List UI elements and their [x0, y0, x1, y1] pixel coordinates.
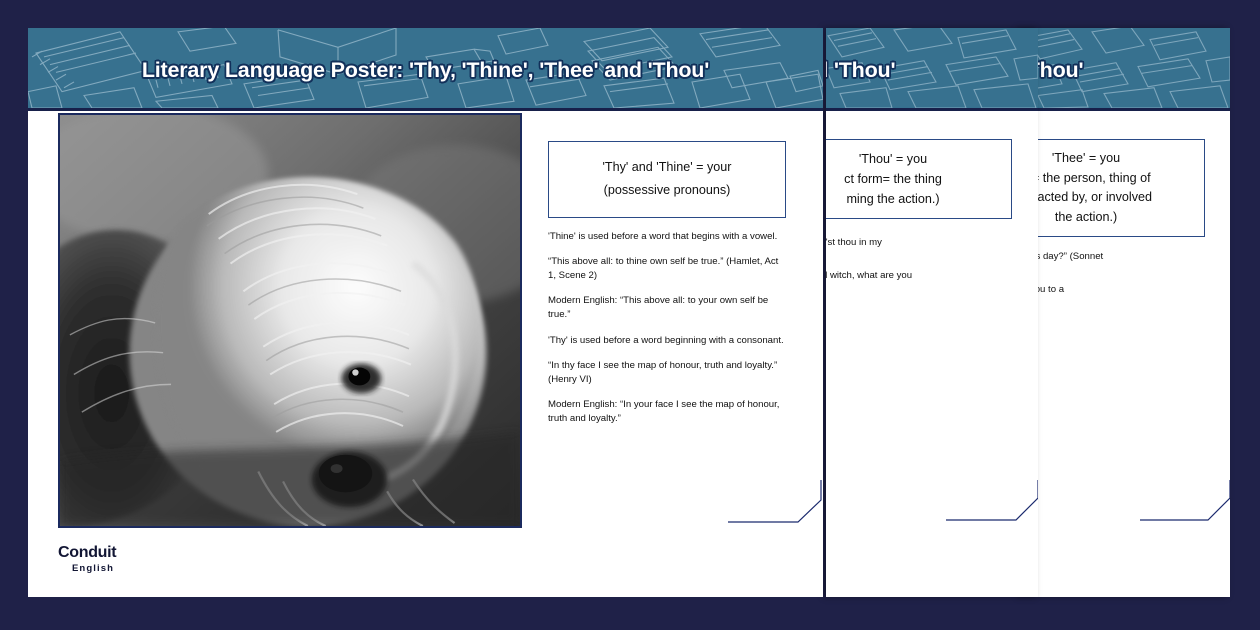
dog-photo: [60, 115, 520, 526]
page-3-definition-line-2: n = the person, thing of: [1020, 169, 1196, 189]
page-2-definition-line-2: ct form= the thing: [826, 169, 1003, 189]
page-3-corner-fold: [1140, 480, 1230, 522]
page-3-banner: e' and 'Thou': [1020, 28, 1230, 111]
page-3-paragraph-2: hall I compare you to a: [1020, 283, 1207, 297]
page-2-definition-line-3: ming the action.): [826, 189, 1003, 209]
page-2-paragraph-2: oul, wrinkled witch, what are you: [826, 269, 1014, 283]
page-3-definition-line-4: the action.): [1020, 208, 1196, 228]
poster-preview-stage: e' and 'Thou' 'Thee' = you n = the perso…: [0, 0, 1260, 630]
page-1-definition-line-1: 'Thy' and 'Thine' = your: [559, 156, 775, 179]
poster-page-3[interactable]: e' and 'Thou' 'Thee' = you n = the perso…: [1020, 28, 1230, 597]
logo-sub-text: English: [72, 564, 116, 574]
page-3-definition-line-3: mpacted by, or involved: [1020, 188, 1196, 208]
page-2-title: e' and 'Thou': [826, 58, 1038, 83]
page-1-definition-line-2: (possessive pronouns): [559, 179, 775, 202]
page-2-paragraph-1: h, what mak'st thou in my: [826, 236, 1014, 250]
page-2-body: 'Thou' = you ct form= the thing ming the…: [826, 111, 1038, 597]
page-3-definition-line-1: 'Thee' = you: [1020, 149, 1196, 169]
page-2-definition-line-1: 'Thou' = you: [826, 149, 1003, 169]
poster-page-1[interactable]: Literary Language Poster: 'Thy, 'Thine',…: [28, 28, 823, 597]
page-1-paragraph-4: 'Thy' is used before a word beginning wi…: [548, 334, 786, 348]
page-1-paragraph-5: “In thy face I see the map of honour, tr…: [548, 359, 786, 386]
page-1-definition-box: 'Thy' and 'Thine' = your (possessive pro…: [548, 141, 786, 218]
page-2-corner-fold: [946, 480, 1038, 522]
page-1-body: 'Thy' and 'Thine' = your (possessive pro…: [28, 111, 823, 597]
page-3-definition-box: 'Thee' = you n = the person, thing of mp…: [1020, 139, 1205, 237]
page-1-paragraph-6: Modern English: “In your face I see the …: [548, 398, 786, 425]
conduit-english-logo: Conduit English: [58, 545, 116, 574]
page-1-paragraph-1: 'Thine' is used before a word that begin…: [548, 230, 786, 244]
page-1-banner: Literary Language Poster: 'Thy, 'Thine',…: [28, 28, 823, 111]
page-3-paragraph-1: ee to a summer's day?” (Sonnet: [1020, 250, 1207, 264]
page-1-title: Literary Language Poster: 'Thy, 'Thine',…: [28, 58, 823, 83]
page-1-text-column: 'Thy' and 'Thine' = your (possessive pro…: [548, 111, 798, 426]
page-1-paragraph-3: Modern English: “This above all: to your…: [548, 294, 786, 321]
page-1-corner-fold: [728, 480, 823, 524]
page-3-body: 'Thee' = you n = the person, thing of mp…: [1020, 111, 1230, 597]
poster-page-2[interactable]: e' and 'Thou' 'Thou' = you ct form= the …: [826, 28, 1038, 597]
page-3-title: e' and 'Thou': [1020, 58, 1230, 83]
page-1-paragraph-2: “This above all: to thine own self be tr…: [548, 255, 786, 282]
page-2-definition-box: 'Thou' = you ct form= the thing ming the…: [826, 139, 1012, 219]
logo-main-text: Conduit: [58, 545, 116, 561]
dog-photo-frame: [58, 113, 522, 528]
page-2-banner: e' and 'Thou': [826, 28, 1038, 111]
